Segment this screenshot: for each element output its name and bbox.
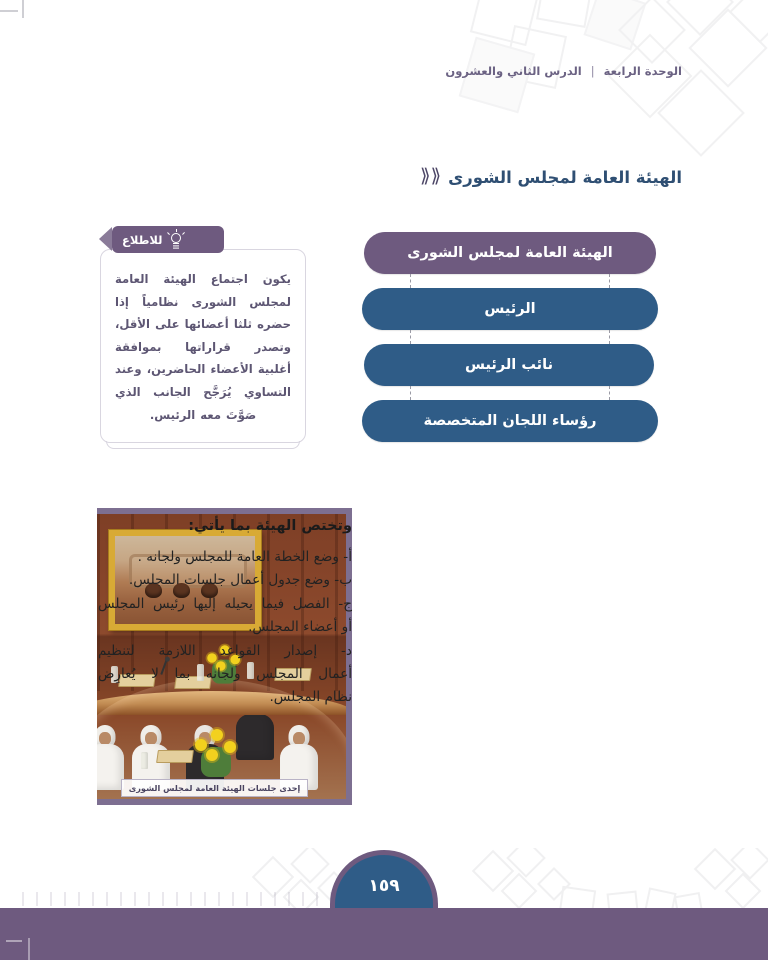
info-box-tab: للاطلاع [112,226,224,253]
flow-node-assembly: الهيئة العامة لمجلس الشورى [364,232,656,274]
flow-node-president: الرئيس [362,288,658,330]
background-decoration [0,0,768,960]
header-lesson: الدرس الثاني والعشرون [445,64,581,78]
flow-connector [360,274,660,288]
footer-faint-pattern [10,892,340,906]
info-box-body: يكون اجتماع الهيئة العامة لمجلس الشورى ن… [100,249,306,443]
page-number-text: ١٥٩ [368,876,399,896]
flow-connector [360,330,660,344]
footer-tick-horizontal [6,940,22,942]
corner-rule-horizontal [0,10,18,12]
prose-line: د- إصدار القواعد اللازمة لتنظيم [98,640,352,663]
prose-line: أعمال المجلس ولجانه بما لا يُعارِض [98,663,352,686]
prose-line: ب- وضع جدول أعمال جلسات المجلس. [98,569,352,592]
flow-node-committee-heads: رؤساء اللجان المتخصصة [362,400,658,442]
section-title: الهيئة العامة لمجلس الشورى ⟪⟪ [420,168,682,187]
org-flowchart: الهيئة العامة لمجلس الشورى الرئيس نائب ا… [360,232,660,442]
section-title-text: الهيئة العامة لمجلس الشورى [448,168,682,187]
footer-tick-vertical [28,938,30,960]
flow-connector [360,386,660,400]
lightbulb-icon [168,231,184,249]
info-box: للاطلاع يكون اجتماع الهيئة العامة لمجلس … [100,226,306,443]
info-box-text: يكون اجتماع الهيئة العامة لمجلس الشورى ن… [115,268,291,426]
photo-caption-text: إحدى جلسات الهيئة العامة لمجلس الشورى [129,783,301,793]
header-separator: | [591,64,595,78]
prose-line: أ- وضع الخطة العامة للمجلس ولجانه . [98,546,352,569]
footer-band [0,908,768,960]
body-text: وتختص الهيئة بما يأتي: أ- وضع الخطة العا… [98,518,352,710]
flow-node-label: الرئيس [484,301,535,317]
prose-line: أو أعضاء المجلس. [98,616,352,639]
prose-line: ج- الفصل فيما يحيله إليها رئيس المجلس [98,593,352,616]
running-header: الوحدة الرابعة | الدرس الثاني والعشرون [86,64,682,78]
header-unit: الوحدة الرابعة [604,64,682,78]
prose-line: نظام المجلس. [98,686,352,709]
flow-node-label: نائب الرئيس [465,357,553,373]
flow-node-vice-president: نائب الرئيس [364,344,654,386]
prose-heading: وتختص الهيئة بما يأتي: [98,518,352,534]
flow-node-label: الهيئة العامة لمجلس الشورى [407,245,613,261]
photo-caption: إحدى جلسات الهيئة العامة لمجلس الشورى [121,779,308,797]
flow-node-label: رؤساء اللجان المتخصصة [423,413,596,429]
corner-rule-vertical [22,0,24,18]
double-chevron-icon: ⟪⟪ [420,167,441,186]
info-box-tab-label: للاطلاع [122,233,162,247]
